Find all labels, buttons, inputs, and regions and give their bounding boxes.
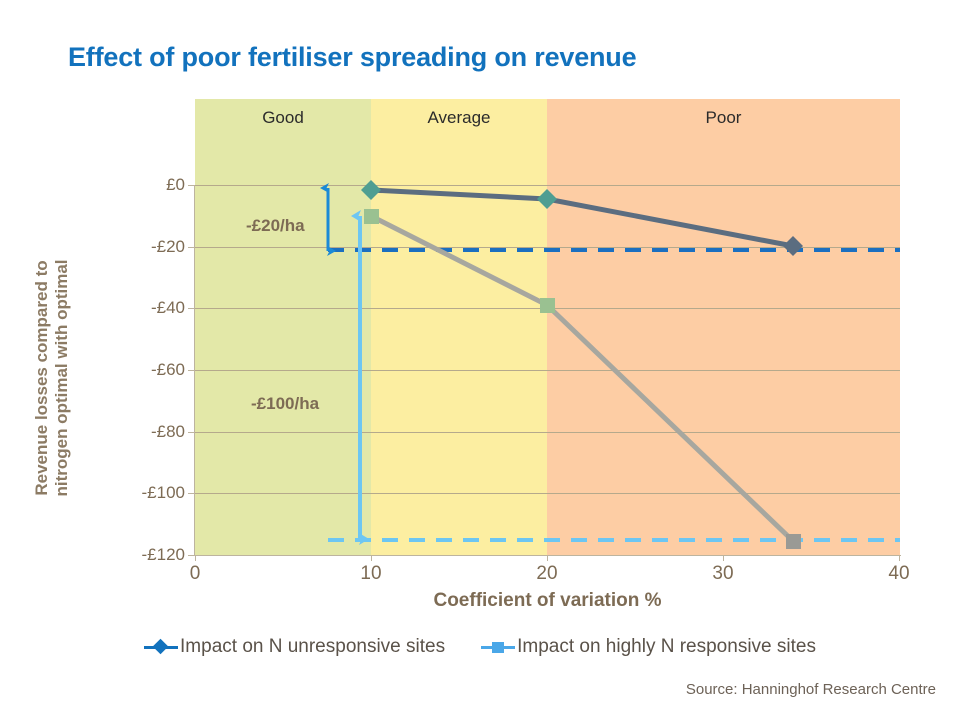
source-note: Source: Hanninghof Research Centre [686,681,936,698]
x-tick-label-40: 40 [888,563,909,585]
x-axis-ticks: 0 10 20 30 40 [0,0,960,720]
x-tick-mark-10 [371,555,372,561]
legend-label-highly-responsive: Impact on highly N responsive sites [517,636,816,658]
y-axis-title: Revenue losses compared to nitrogen opti… [32,188,72,568]
legend-marker-diamond-icon [144,640,178,654]
x-tick-label-30: 30 [712,563,733,585]
legend-marker-square-icon [481,640,515,654]
x-tick-mark-40 [899,555,900,561]
y-axis-title-line2: nitrogen optimal with optimal [52,259,71,496]
legend-item-unresponsive[interactable]: Impact on N unresponsive sites [144,636,445,658]
x-tick-label-20: 20 [536,563,557,585]
x-tick-mark-20 [547,555,548,561]
y-axis-title-line1: Revenue losses compared to [32,260,51,495]
chart-container: Effect of poor fertiliser spreading on r… [0,0,960,720]
annotation-label-minus20: -£20/ha [246,216,305,236]
x-tick-mark-30 [723,555,724,561]
x-axis-title: Coefficient of variation % [195,590,900,612]
x-tick-mark-0 [195,555,196,561]
legend-label-unresponsive: Impact on N unresponsive sites [180,636,445,658]
x-tick-label-0: 0 [190,563,201,585]
legend-item-highly-responsive[interactable]: Impact on highly N responsive sites [481,636,816,658]
chart-legend: Impact on N unresponsive sites Impact on… [0,636,960,658]
x-tick-label-10: 10 [360,563,381,585]
annotation-label-minus100: -£100/ha [251,394,319,414]
